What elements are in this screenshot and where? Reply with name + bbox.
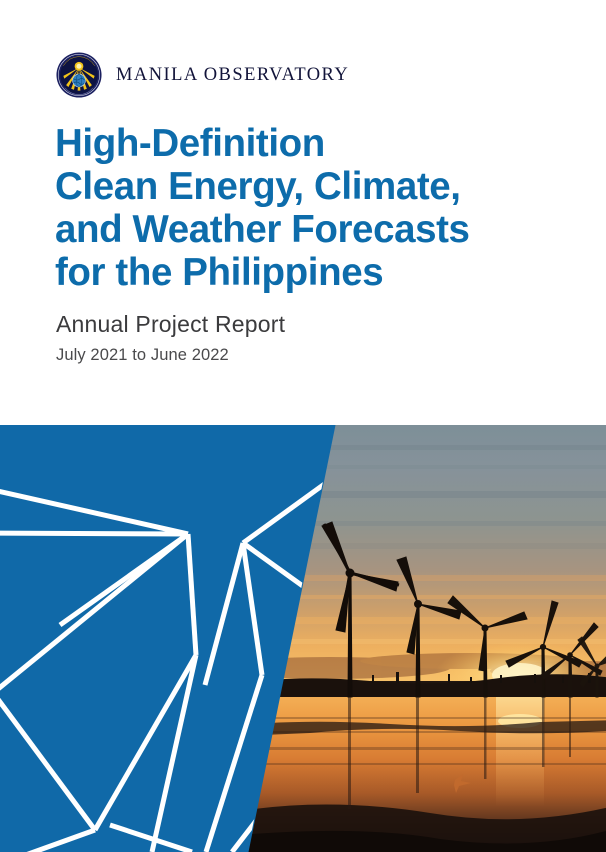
title-line-1: High-Definition [55, 122, 555, 165]
brand-lockup: MANILA OBSERVATORY [56, 52, 349, 98]
report-subtitle: Annual Project Report [56, 310, 285, 338]
brand-name: MANILA OBSERVATORY [116, 66, 349, 85]
page-title: High-Definition Clean Energy, Climate, a… [55, 122, 555, 294]
report-cover-page: MANILA OBSERVATORY High-Definition Clean… [0, 0, 606, 852]
title-line-4: for the Philippines [55, 251, 555, 294]
artwork-canvas [0, 425, 606, 852]
title-line-2: Clean Energy, Climate, [55, 165, 555, 208]
cover-artwork [0, 425, 606, 852]
title-line-3: and Weather Forecasts [55, 208, 555, 251]
manila-observatory-seal-icon [56, 52, 102, 98]
report-date-range: July 2021 to June 2022 [56, 344, 229, 366]
